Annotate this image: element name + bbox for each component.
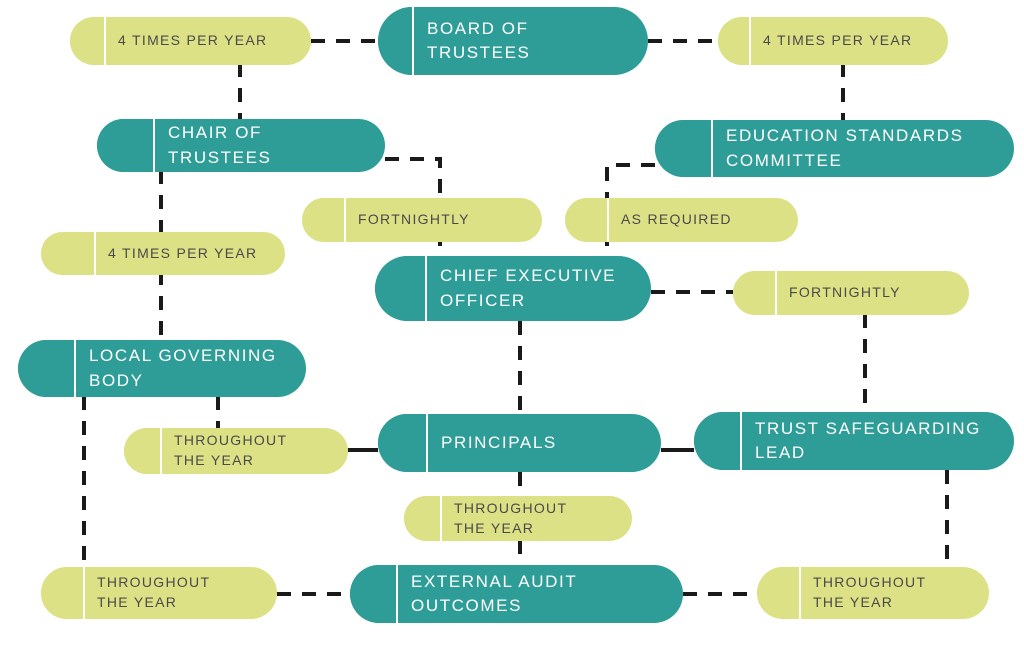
node-frequency-fortnightly-chair-ceo[interactable]: FORTNIGHTLY [302,198,542,242]
node-board-of-trustees[interactable]: BOARD OF TRUSTEES [378,7,648,75]
pill-cap [718,17,749,65]
pill-cap [124,428,160,474]
edge-chair-to-fortnightly [385,159,440,198]
node-label: EDUCATION STANDARDS COMMITTEE [713,120,1014,177]
node-label: THROUGHOUT THE YEAR [85,567,277,619]
node-label: 4 TIMES PER YEAR [106,17,311,65]
node-label: CHIEF EXECUTIVE OFFICER [427,256,651,321]
node-label: THROUGHOUT THE YEAR [442,496,632,541]
pill-cap [41,567,83,619]
node-label: CHAIR OF TRUSTEES [155,119,385,172]
node-frequency-board-left[interactable]: 4 TIMES PER YEAR [70,17,311,65]
governance-diagram: left "4 times per year" --> right "4 tim… [0,0,1024,670]
edge-edu-to-asrequired [607,165,655,198]
pill-cap [18,340,74,397]
node-frequency-throughout-principals-audit[interactable]: THROUGHOUT THE YEAR [404,496,632,541]
node-chief-executive-officer[interactable]: CHIEF EXECUTIVE OFFICER [375,256,651,321]
node-label: THROUGHOUT THE YEAR [162,428,348,474]
node-label: FORTNIGHTLY [346,198,542,242]
node-frequency-throughout-safeguard-audit[interactable]: THROUGHOUT THE YEAR [757,567,989,619]
pill-cap [41,232,94,275]
node-label: LOCAL GOVERNING BODY [76,340,306,397]
pill-cap [378,414,426,472]
node-trust-safeguarding-lead[interactable]: TRUST SAFEGUARDING LEAD [694,412,1014,470]
node-frequency-as-required[interactable]: AS REQUIRED [565,198,798,242]
node-label: 4 TIMES PER YEAR [751,17,948,65]
node-label: THROUGHOUT THE YEAR [801,567,989,619]
node-chair-of-trustees[interactable]: CHAIR OF TRUSTEES [97,119,385,172]
pill-cap [694,412,740,470]
pill-cap [97,119,153,172]
pill-cap [302,198,344,242]
node-label: AS REQUIRED [609,198,798,242]
pill-cap [655,120,711,177]
pill-cap [733,271,775,315]
pill-cap [378,7,412,75]
pill-cap [70,17,104,65]
pill-cap [404,496,440,541]
node-label: FORTNIGHTLY [777,271,969,315]
node-frequency-throughout-lgb-principals[interactable]: THROUGHOUT THE YEAR [124,428,348,474]
pill-cap [757,567,799,619]
node-frequency-fortnightly-ceo-safeguard[interactable]: FORTNIGHTLY [733,271,969,315]
node-frequency-throughout-lgb-audit[interactable]: THROUGHOUT THE YEAR [41,567,277,619]
node-external-audit-outcomes[interactable]: EXTERNAL AUDIT OUTCOMES [350,565,683,623]
pill-cap [350,565,396,623]
node-local-governing-body[interactable]: LOCAL GOVERNING BODY [18,340,306,397]
node-label: BOARD OF TRUSTEES [414,7,648,75]
pill-cap [375,256,425,321]
node-label: PRINCIPALS [428,414,661,472]
node-label: TRUST SAFEGUARDING LEAD [742,412,1014,470]
pill-cap [565,198,607,242]
node-frequency-board-right[interactable]: 4 TIMES PER YEAR [718,17,948,65]
node-frequency-chair-lgb[interactable]: 4 TIMES PER YEAR [41,232,285,275]
node-education-standards-committee[interactable]: EDUCATION STANDARDS COMMITTEE [655,120,1014,177]
node-label: 4 TIMES PER YEAR [96,232,285,275]
node-label: EXTERNAL AUDIT OUTCOMES [398,565,683,623]
node-principals[interactable]: PRINCIPALS [378,414,661,472]
